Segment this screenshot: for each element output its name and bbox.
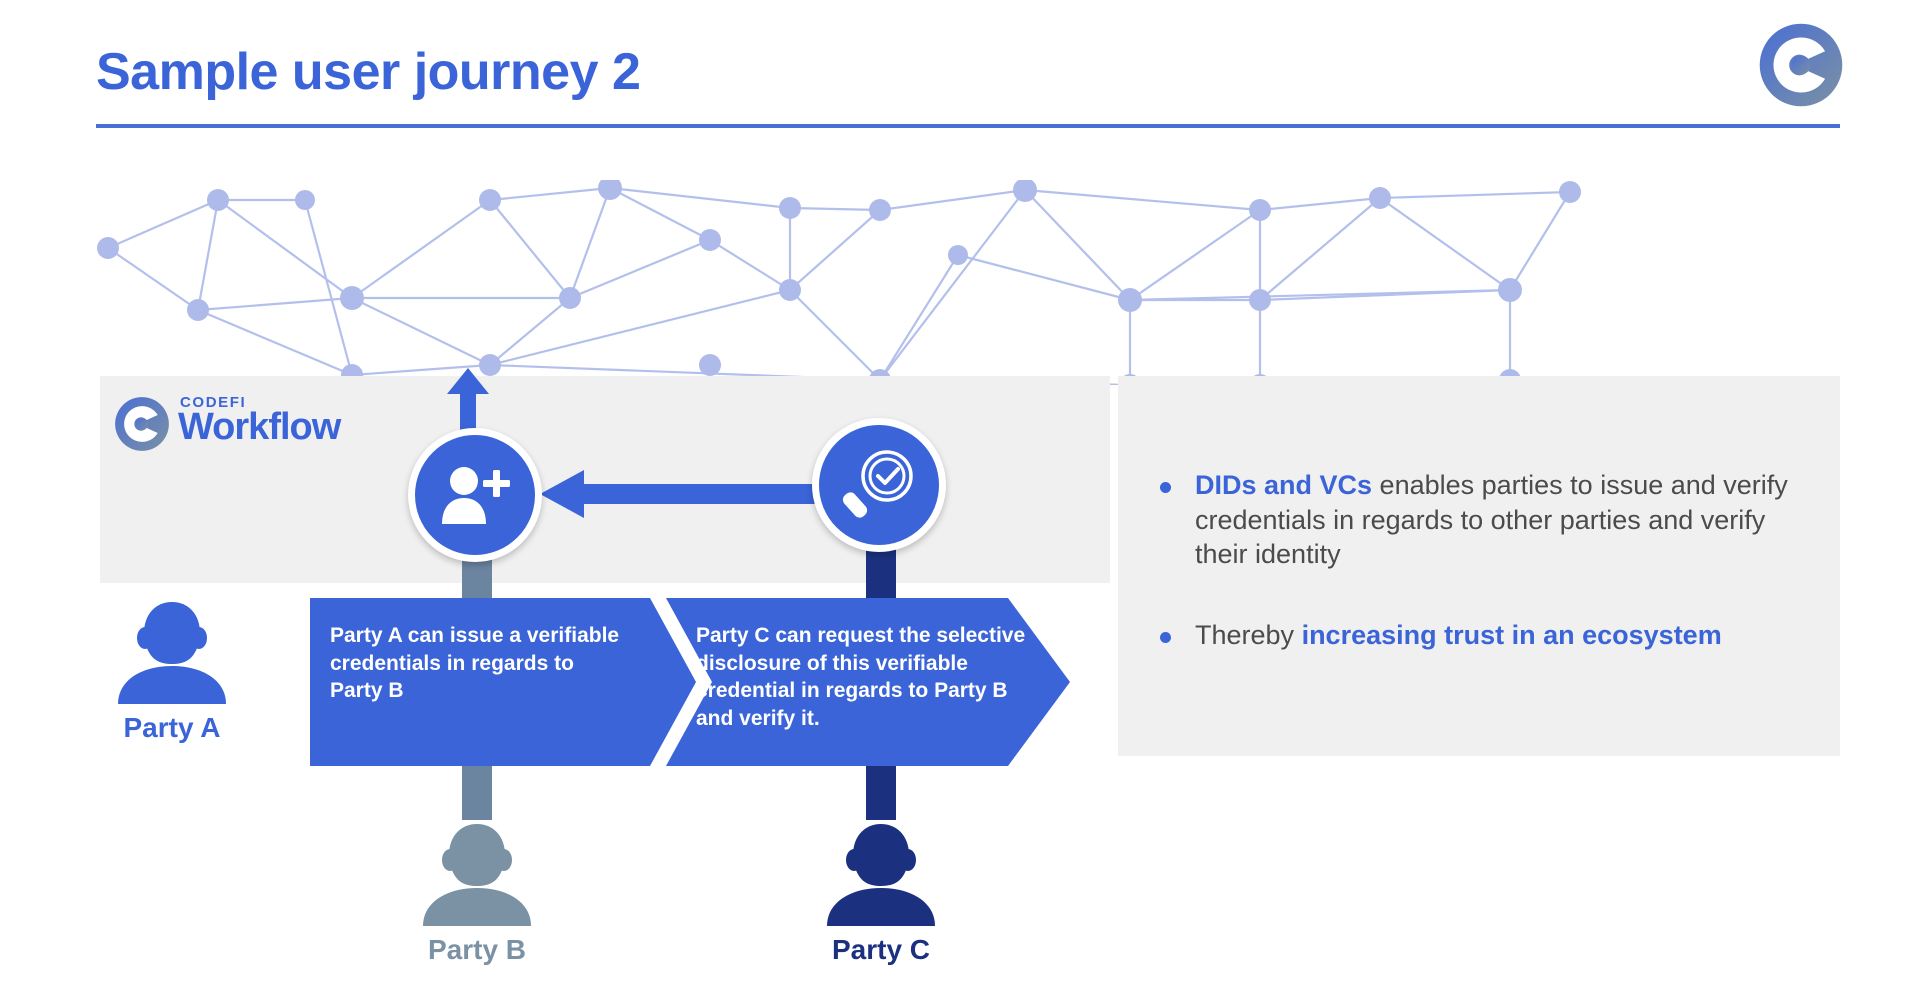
party-b-label: Party B bbox=[413, 934, 541, 966]
chevron-step-c-label: Party C can request the selective disclo… bbox=[696, 622, 1026, 733]
party-c-figure: Party C bbox=[817, 820, 945, 966]
list-item: Thereby increasing trust in an ecosystem bbox=[1160, 618, 1800, 653]
party-a-figure: Party A bbox=[108, 598, 236, 744]
page-title: Sample user journey 2 bbox=[96, 42, 640, 102]
issue-credential-icon-button[interactable] bbox=[408, 428, 542, 562]
person-silhouette-icon bbox=[823, 820, 939, 928]
bullet-text: Thereby increasing trust in an ecosystem bbox=[1195, 618, 1722, 653]
arrow-left-icon bbox=[540, 466, 830, 522]
title-underline bbox=[96, 124, 1840, 128]
slide-root: Sample user journey 2 bbox=[0, 0, 1918, 1006]
bullet-lead-plain: Thereby bbox=[1195, 620, 1302, 650]
arrow-up-icon bbox=[447, 368, 489, 436]
magnifier-check-icon bbox=[841, 447, 917, 523]
notes-bullet-list: DIDs and VCs enables parties to issue an… bbox=[1160, 468, 1800, 652]
bullet-lead: DIDs and VCs bbox=[1195, 470, 1372, 500]
codefi-circle-logo-icon bbox=[114, 396, 170, 452]
party-b-figure: Party B bbox=[413, 820, 541, 966]
party-a-label: Party A bbox=[108, 712, 236, 744]
party-c-label: Party C bbox=[817, 934, 945, 966]
person-add-icon bbox=[438, 462, 512, 528]
bullet-dot-icon bbox=[1160, 482, 1171, 493]
bullet-text: DIDs and VCs enables parties to issue an… bbox=[1195, 468, 1800, 572]
codefi-workflow-logo: CODEFI Workflow bbox=[114, 392, 340, 454]
network-graph-decoration bbox=[90, 180, 1850, 385]
bullet-emphasis: increasing trust in an ecosystem bbox=[1302, 620, 1722, 650]
list-item: DIDs and VCs enables parties to issue an… bbox=[1160, 468, 1800, 572]
workflow-wordmark: Workflow bbox=[178, 406, 340, 449]
codefi-circle-logo-icon bbox=[1758, 22, 1844, 108]
chevron-step-a-label: Party A can issue a verifiable credentia… bbox=[330, 622, 630, 705]
bullet-dot-icon bbox=[1160, 632, 1171, 643]
person-silhouette-icon bbox=[114, 598, 230, 706]
person-silhouette-icon bbox=[419, 820, 535, 928]
verify-credential-icon-button[interactable] bbox=[812, 418, 946, 552]
